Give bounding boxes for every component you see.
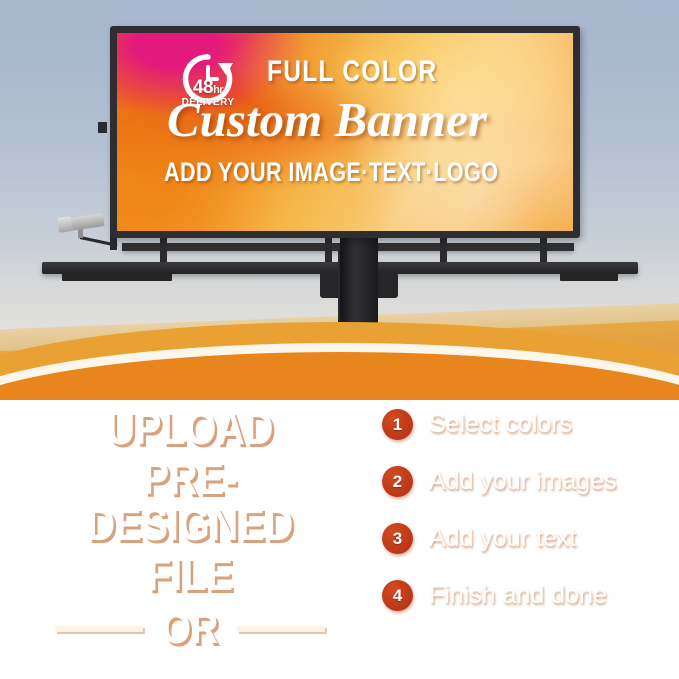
billboard-brace (440, 238, 447, 264)
step-label: Finish and done (429, 581, 607, 610)
billboard-brace (325, 238, 332, 264)
billboard-foot (560, 272, 618, 281)
or-divider-label: OR (162, 607, 219, 651)
billboard-brace (160, 238, 167, 264)
step-badge: 2 (382, 466, 413, 497)
security-camera-icon (58, 216, 118, 250)
instructions-panel: UPLOAD PRE-DESIGNED FILE OR 1 Select col… (0, 395, 679, 679)
step-badge: 4 (382, 580, 413, 611)
step-label: Select colors (429, 410, 572, 439)
list-item: 1 Select colors (382, 409, 672, 440)
billboard-face: 48hr DELIVERY FULL COLOR Custom Banner A… (117, 33, 573, 231)
billboard-script-line: Custom Banner (167, 91, 573, 148)
upload-line-3: FILE (52, 551, 327, 597)
upload-line-1: UPLOAD (52, 405, 327, 451)
billboard-frame: 48hr DELIVERY FULL COLOR Custom Banner A… (110, 26, 580, 238)
billboard-sub-line: ADD YOUR IMAGE·TEXT·LOGO (164, 157, 500, 188)
billboard-headline: FULL COLOR (267, 55, 513, 89)
billboard-side-clip (98, 122, 107, 133)
steps-column: 1 Select colors 2 Add your images 3 Add … (382, 409, 672, 637)
step-label: Add your text (429, 524, 576, 553)
upload-line-2: PRE-DESIGNED (52, 455, 327, 547)
billboard-brace (540, 238, 547, 264)
or-divider-line-left (55, 626, 143, 632)
list-item: 4 Finish and done (382, 580, 672, 611)
upload-column: UPLOAD PRE-DESIGNED FILE OR (30, 405, 350, 651)
or-divider: OR (30, 607, 350, 651)
step-label: Add your images (429, 467, 617, 496)
step-badge: 3 (382, 523, 413, 554)
step-badge: 1 (382, 409, 413, 440)
or-divider-line-right (237, 626, 325, 632)
promo-graphic: 48hr DELIVERY FULL COLOR Custom Banner A… (0, 0, 679, 679)
camera-hood (57, 216, 73, 233)
list-item: 2 Add your images (382, 466, 672, 497)
billboard-foot (62, 272, 172, 281)
list-item: 3 Add your text (382, 523, 672, 554)
billboard-text-block: FULL COLOR Custom Banner ADD YOUR IMAGE·… (117, 33, 573, 231)
sky-photo-area: 48hr DELIVERY FULL COLOR Custom Banner A… (0, 0, 679, 400)
